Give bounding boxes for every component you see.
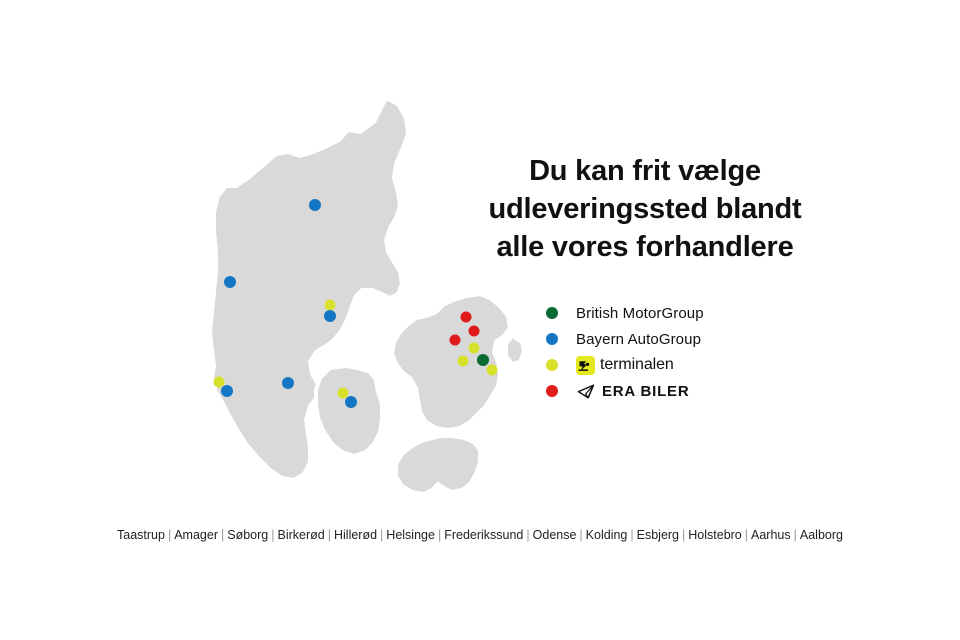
legend-swatch-blue — [546, 333, 558, 345]
city-odense: Odense — [533, 528, 577, 542]
city-kolding: Kolding — [586, 528, 628, 542]
map-dot-odense[interactable] — [345, 396, 357, 408]
city-hiller-d: Hillerød — [334, 528, 377, 542]
denmark-map-panel — [150, 80, 550, 510]
map-dot-hiller-d[interactable] — [469, 326, 480, 337]
legend-item-british-motorgroup[interactable]: British MotorGroup — [546, 300, 846, 326]
map-dot-esbjerg[interactable] — [214, 377, 225, 388]
map-region-east-sliver — [506, 336, 524, 364]
city-separator: | — [377, 528, 386, 542]
terminalen-logo: terminalen — [576, 356, 674, 375]
city-separator: | — [523, 528, 532, 542]
city-frederikssund: Frederikssund — [444, 528, 523, 542]
map-dot-aarhus[interactable] — [324, 310, 336, 322]
city-separator: | — [325, 528, 334, 542]
map-dot-helsinge[interactable] — [461, 312, 472, 323]
city-separator: | — [435, 528, 444, 542]
city-amager: Amager — [174, 528, 218, 542]
headline-line-2: udleveringssted blandt — [430, 190, 860, 228]
city-separator: | — [165, 528, 174, 542]
city-aarhus: Aarhus — [751, 528, 791, 542]
map-dot-kolding[interactable] — [282, 377, 294, 389]
map-dot-aalborg[interactable] — [309, 199, 321, 211]
map-dot-taastrup[interactable] — [458, 356, 469, 367]
map-dot-odense[interactable] — [338, 388, 349, 399]
headline-line-3: alle vores forhandlere — [430, 228, 860, 266]
map-dot-esbjerg[interactable] — [221, 385, 233, 397]
city-separator: | — [791, 528, 800, 542]
map-region-lolland-falster — [396, 436, 480, 494]
city-taastrup: Taastrup — [117, 528, 165, 542]
city-helsinge: Helsinge — [386, 528, 435, 542]
legend-item-terminalen[interactable]: terminalen — [546, 352, 846, 378]
legend-item-era-biler[interactable]: ERA BILER — [546, 378, 846, 404]
map-dot-amager[interactable] — [487, 365, 498, 376]
page-title: Du kan frit vælge udleveringssted blandt… — [430, 152, 860, 266]
legend-item-bayern-autogroup[interactable]: Bayern AutoGroup — [546, 326, 846, 352]
map-dot-frederikssund[interactable] — [450, 335, 461, 346]
era-biler-logo: ERA BILER — [576, 383, 689, 400]
legend-swatch-red — [546, 385, 558, 397]
legend-swatch-green — [546, 307, 558, 319]
city-list: Taastrup|Amager|Søborg|Birkerød|Hillerød… — [0, 528, 960, 542]
city-separator: | — [742, 528, 751, 542]
denmark-map — [150, 80, 550, 510]
legend-swatch-yellow — [546, 359, 558, 371]
map-dot-aarhus[interactable] — [325, 300, 336, 311]
legend-label-british-motorgroup: British MotorGroup — [576, 305, 704, 322]
city-aalborg: Aalborg — [800, 528, 843, 542]
poster-canvas: Du kan frit vælge udleveringssted blandt… — [0, 0, 960, 640]
terminalen-wordmark: terminalen — [600, 356, 674, 374]
dealer-legend: British MotorGroup Bayern AutoGroup term… — [546, 300, 846, 404]
city-separator: | — [679, 528, 688, 542]
city-holstebro: Holstebro — [688, 528, 742, 542]
city-esbjerg: Esbjerg — [637, 528, 679, 542]
city-separator: | — [576, 528, 585, 542]
city-birker-d: Birkerød — [278, 528, 325, 542]
city-s-borg: Søborg — [227, 528, 268, 542]
map-dot-birker-d[interactable] — [469, 343, 480, 354]
map-dot-s-borg[interactable] — [477, 354, 489, 366]
map-region-zealand — [392, 294, 510, 430]
city-separator: | — [218, 528, 227, 542]
map-dot-holstebro[interactable] — [224, 276, 236, 288]
terminalen-mark-icon — [576, 356, 595, 375]
city-separator: | — [627, 528, 636, 542]
city-separator: | — [268, 528, 277, 542]
headline-line-1: Du kan frit vælge — [430, 152, 860, 190]
map-region-funen — [316, 366, 382, 456]
legend-label-bayern-autogroup: Bayern AutoGroup — [576, 331, 701, 348]
era-biler-triangle-icon — [576, 383, 596, 400]
era-biler-wordmark: ERA BILER — [602, 383, 689, 400]
